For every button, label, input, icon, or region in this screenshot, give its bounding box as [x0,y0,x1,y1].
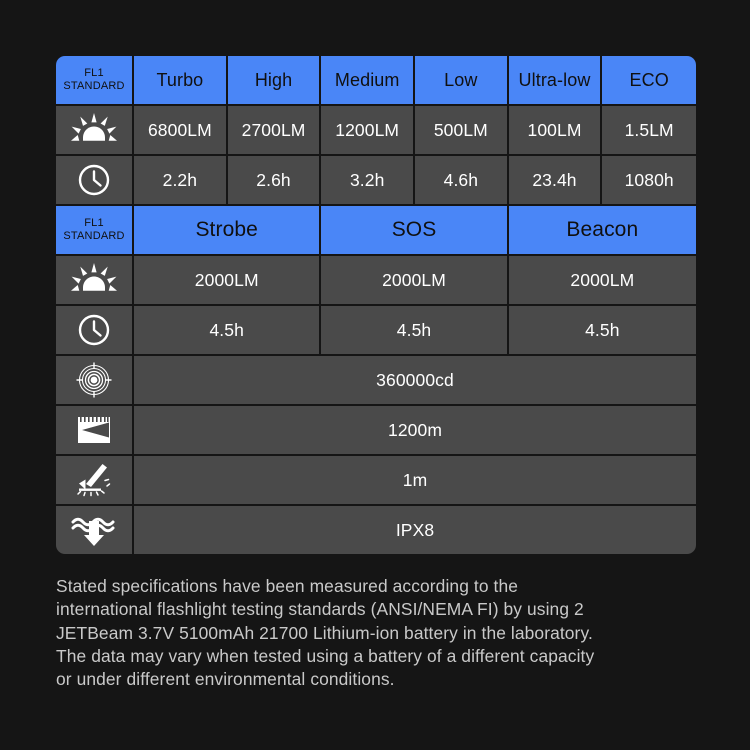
runtime-high: 2.6h [228,156,322,206]
table-row-special-header: FL1 STANDARD Strobe SOS Beacon [56,206,696,256]
footnote-line-4: The data may vary when tested using a ba… [56,645,704,668]
mode-header-strobe: Strobe [134,206,321,256]
beam-intensity-target-icon [56,356,132,404]
table-row-beam-distance: 1200m [56,406,696,456]
table-row-special-lumens: 2000LM 2000LM 2000LM [56,256,696,306]
fl1-label-line2: STANDARD [56,80,132,93]
sunburst-icon [56,256,132,304]
fl1-label-line1: FL1 [56,67,132,80]
beam-intensity-value: 360000cd [134,356,696,406]
clock-icon [56,306,132,354]
spec-sheet-page: FL1 STANDARD Turbo High Medium Low Ultra… [0,0,750,750]
lumens-ultra-low: 100LM [509,106,603,156]
beam-distance-icon-cell [56,406,134,456]
mode-header-ultra-low: Ultra-low [509,56,603,106]
table-row-special-runtime: 4.5h 4.5h 4.5h [56,306,696,356]
fl1-standard-label-2: FL1 STANDARD [56,206,134,256]
mode-header-sos: SOS [321,206,508,256]
lumens-high: 2700LM [228,106,322,156]
footnote: Stated specifications have been measured… [56,575,704,692]
mode-header-beacon: Beacon [509,206,696,256]
water-resistance-icon-cell [56,506,134,554]
water-resistance-value: IPX8 [134,506,696,554]
mode-header-medium: Medium [321,56,415,106]
mode-header-eco: ECO [602,56,696,106]
runtime-beacon: 4.5h [509,306,696,356]
special-lumens-row-icon-cell [56,256,134,306]
special-runtime-row-icon-cell [56,306,134,356]
table-row-main-header: FL1 STANDARD Turbo High Medium Low Ultra… [56,56,696,106]
table-row-impact-resistance: 1m [56,456,696,506]
fl1-label-2-line2: STANDARD [56,230,132,243]
lumens-turbo: 6800LM [134,106,228,156]
mode-header-turbo: Turbo [134,56,228,106]
mode-header-low: Low [415,56,509,106]
runtime-row-icon-cell [56,156,134,206]
beam-distance-value: 1200m [134,406,696,456]
table-row-main-runtime: 2.2h 2.6h 3.2h 4.6h 23.4h 1080h [56,156,696,206]
runtime-eco: 1080h [602,156,696,206]
impact-resistance-value: 1m [134,456,696,506]
impact-resistance-icon-cell [56,456,134,506]
runtime-strobe: 4.5h [134,306,321,356]
footnote-line-1: Stated specifications have been measured… [56,575,704,598]
runtime-sos: 4.5h [321,306,508,356]
lumens-low: 500LM [415,106,509,156]
runtime-ultra-low: 23.4h [509,156,603,206]
table-row-water-resistance: IPX8 [56,506,696,554]
water-resistance-icon [56,506,132,554]
footnote-line-3: JETBeam 3.7V 5100mAh 21700 Lithium-ion b… [56,622,704,645]
runtime-low: 4.6h [415,156,509,206]
runtime-turbo: 2.2h [134,156,228,206]
beam-intensity-icon-cell [56,356,134,406]
fl1-label-2-line1: FL1 [56,217,132,230]
specifications-table: FL1 STANDARD Turbo High Medium Low Ultra… [56,56,696,554]
lumens-eco: 1.5LM [602,106,696,156]
table-row-main-lumens: 6800LM 2700LM 1200LM 500LM 100LM 1.5LM [56,106,696,156]
lumens-medium: 1200LM [321,106,415,156]
runtime-medium: 3.2h [321,156,415,206]
lumens-strobe: 2000LM [134,256,321,306]
impact-resistance-icon [56,456,132,504]
footnote-line-2: international flashlight testing standar… [56,598,704,621]
beam-distance-ruler-icon [56,406,132,454]
clock-icon [56,156,132,204]
table-row-beam-intensity: 360000cd [56,356,696,406]
fl1-standard-label: FL1 STANDARD [56,56,134,106]
lumens-sos: 2000LM [321,256,508,306]
lumens-beacon: 2000LM [509,256,696,306]
mode-header-high: High [228,56,322,106]
sunburst-icon [56,106,132,154]
lumens-row-icon-cell [56,106,134,156]
footnote-line-5: or under different environmental conditi… [56,668,704,691]
